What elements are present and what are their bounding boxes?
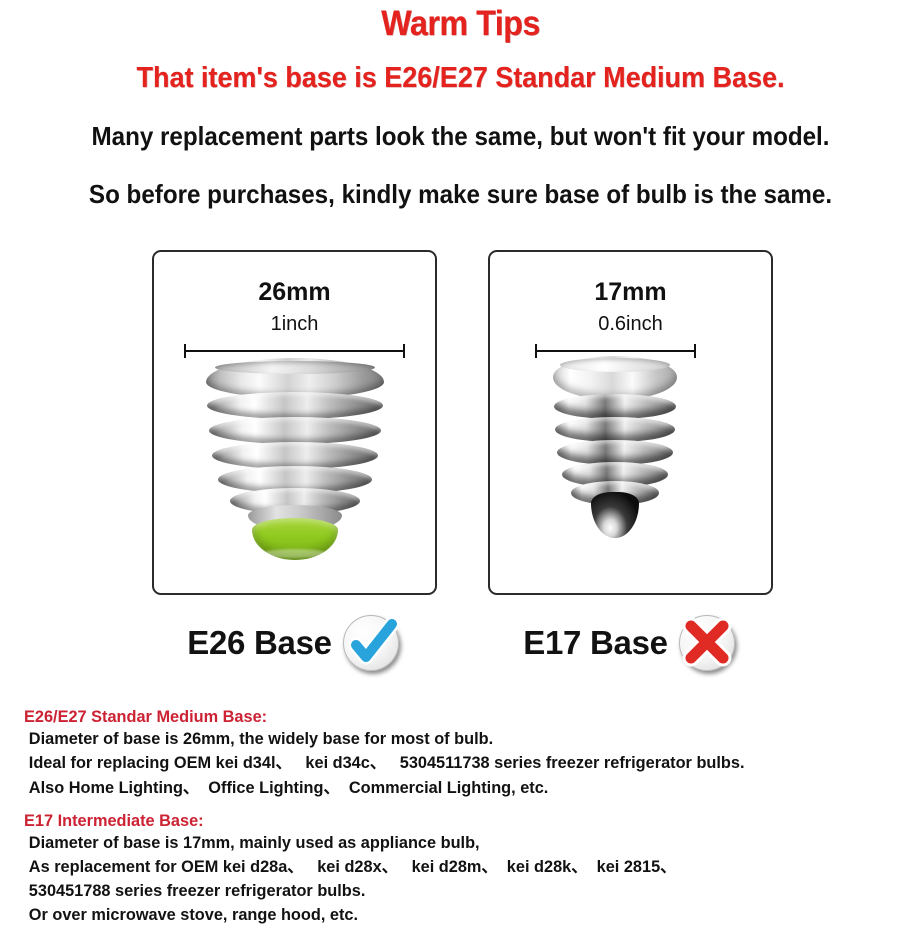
thread-ring — [209, 417, 381, 444]
e17-bulb-image — [490, 348, 771, 593]
e26-details-line-3: Also Home Lighting、 Office Lighting、 Com… — [24, 776, 878, 800]
thread-ring — [555, 417, 675, 442]
headline-warning-2: So before purchases, kindly make sure ba… — [32, 181, 889, 207]
base-details-section: E26/E27 Standar Medium Base: Diameter of… — [24, 706, 914, 927]
thread-ring — [554, 394, 676, 419]
e17-details-line-2: As replacement for OEM kei d28a、 kei d28… — [24, 855, 878, 879]
warm-tips-header: Warm Tips That item's base is E26/E27 St… — [0, 0, 921, 207]
e26-details-heading: E26/E27 Standar Medium Base: — [24, 706, 878, 727]
e26-caption-row: E26 Base — [152, 608, 437, 678]
e26-size-inch-label: 1inch — [154, 314, 435, 334]
e17-caption-row: E17 Base — [488, 608, 773, 678]
base-comparison-section: 26mm 1inch — [0, 250, 921, 690]
e26-green-contact-tip-icon — [252, 518, 338, 560]
e17-black-contact-tip-icon — [591, 492, 639, 538]
e26-size-mm-label: 26mm — [154, 280, 435, 305]
e26-details-line-1: Diameter of base is 26mm, the widely bas… — [24, 727, 878, 751]
e17-details-line-1: Diameter of base is 17mm, mainly used as… — [24, 831, 878, 855]
e17-photo-box: 17mm 0.6inch — [488, 250, 773, 595]
thread-ring — [212, 442, 378, 469]
e26-threads-icon — [206, 392, 384, 520]
e17-screw-base-graphic — [553, 356, 677, 504]
e17-panel: 17mm 0.6inch — [488, 250, 773, 595]
e17-threads-icon — [553, 392, 677, 504]
e26-photo-box: 26mm 1inch — [152, 250, 437, 595]
e26-screw-base-graphic — [206, 358, 384, 520]
e17-caption-label: E17 Base — [523, 624, 667, 662]
check-mark-icon — [340, 612, 402, 674]
e26-panel: 26mm 1inch — [152, 250, 437, 595]
page-title: Warm Tips — [37, 0, 884, 41]
details-divider — [24, 800, 914, 810]
headline-warning-1: Many replacement parts look the same, bu… — [32, 123, 889, 149]
e26-bulb-image — [154, 348, 435, 593]
e26-caption-label: E26 Base — [187, 624, 331, 662]
headline-base-statement: That item's base is E26/E27 Standar Medi… — [32, 64, 889, 93]
e17-size-mm-label: 17mm — [490, 280, 771, 305]
e17-size-inch-label: 0.6inch — [490, 314, 771, 334]
e17-details-line-3: 530451788 series freezer refrigerator bu… — [24, 879, 878, 903]
e26-details-line-2: Ideal for replacing OEM kei d34l、 kei d3… — [24, 751, 878, 775]
thread-ring — [207, 392, 383, 419]
e17-details-line-4: Or over microwave stove, range hood, etc… — [24, 903, 878, 927]
e17-details-heading: E17 Intermediate Base: — [24, 810, 878, 831]
cross-mark-icon — [676, 612, 738, 674]
